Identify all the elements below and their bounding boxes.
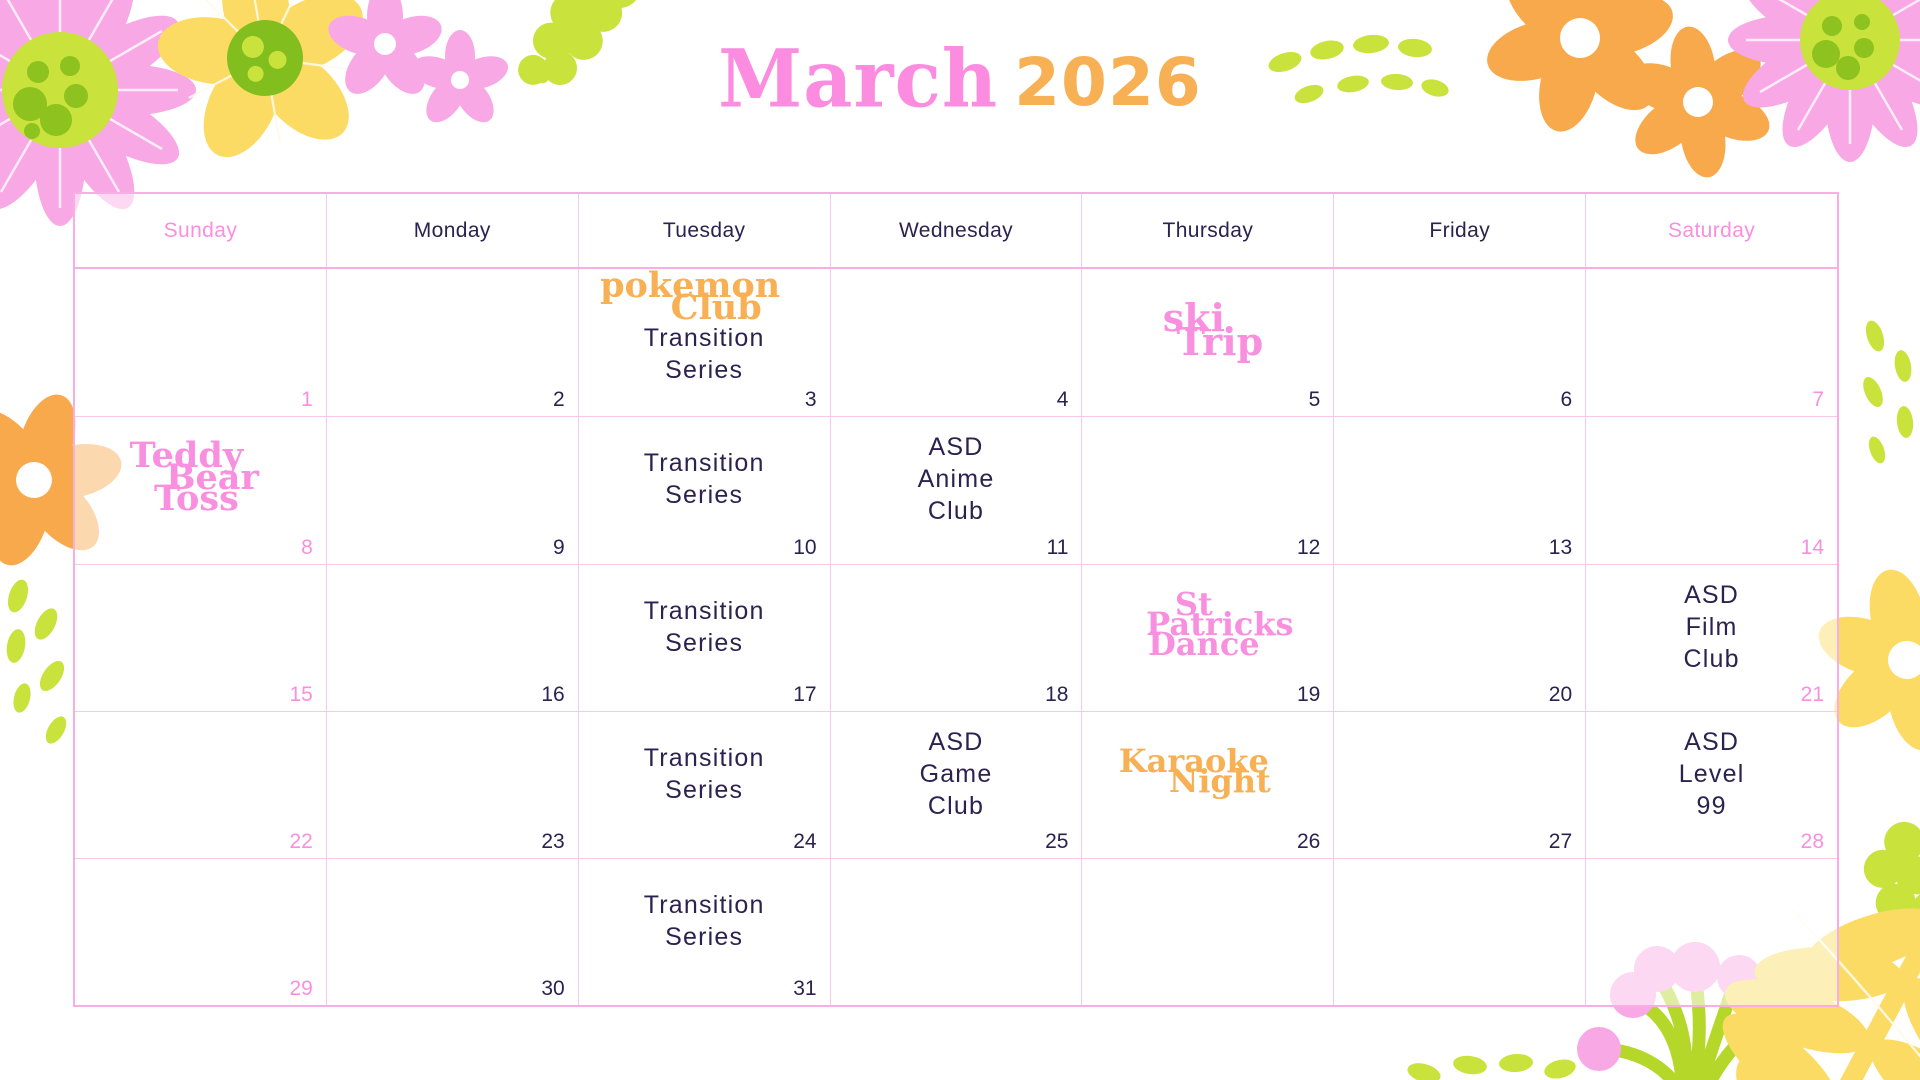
day-cell-28[interactable]: ASD Level 9928 — [1586, 712, 1837, 858]
day-cell-3[interactable]: pokemonClubTransition Series3 — [579, 269, 831, 416]
day-number: 21 — [1801, 684, 1824, 705]
day-cell-1[interactable]: 1 — [75, 269, 327, 416]
day-cell-21[interactable]: ASD Film Club21 — [1586, 565, 1837, 711]
green-dot-sprig-right-icon — [1845, 320, 1920, 500]
event-title-line: Teddy — [130, 445, 244, 467]
calendar-week-row: 1516Transition Series1718StPatricksDance… — [75, 565, 1837, 712]
event-title-decorative: TeddyBearToss — [144, 445, 258, 510]
calendar-grid: SundayMondayTuesdayWednesdayThursdayFrid… — [73, 192, 1839, 1007]
day-cell-24[interactable]: Transition Series24 — [579, 712, 831, 858]
weekday-header-wednesday: Wednesday — [831, 194, 1083, 267]
event-title-plain: Transition Series — [644, 889, 765, 953]
day-cell-23[interactable]: 23 — [327, 712, 579, 858]
day-number: 22 — [290, 831, 313, 852]
day-cell-2[interactable]: 2 — [327, 269, 579, 416]
event-title-decorative: pokemonClub — [614, 275, 794, 318]
event-title-plain: ASD Game Club — [920, 726, 993, 822]
day-cell-19[interactable]: StPatricksDance19 — [1082, 565, 1334, 711]
event-title-line: Bear — [156, 467, 270, 489]
day-cell-16[interactable]: 16 — [327, 565, 579, 711]
day-number: 16 — [541, 684, 564, 705]
event-title-line: ski — [1151, 306, 1238, 330]
weekday-header-row: SundayMondayTuesdayWednesdayThursdayFrid… — [75, 194, 1837, 269]
day-number: 12 — [1297, 537, 1320, 558]
calendar-week-row: 12pokemonClubTransition Series34skiTrip5… — [75, 269, 1837, 417]
event-title-decorative: KaraokeNight — [1133, 752, 1283, 792]
day-cell-9[interactable]: 9 — [327, 417, 579, 563]
day-cell-8[interactable]: TeddyBearToss8 — [75, 417, 327, 563]
green-dot-sprig-bottom-icon — [1400, 1015, 1620, 1080]
day-number: 24 — [793, 831, 816, 852]
event-title-plain: Transition Series — [644, 595, 765, 659]
event-title-plain: Transition Series — [644, 742, 765, 806]
event-title-plain: Transition Series — [644, 447, 765, 511]
weekday-header-thursday: Thursday — [1082, 194, 1334, 267]
day-number: 26 — [1297, 831, 1320, 852]
day-number: 18 — [1045, 684, 1068, 705]
day-cell-18[interactable]: 18 — [831, 565, 1083, 711]
event-title-plain: ASD Anime Club — [918, 431, 995, 527]
weekday-header-saturday: Saturday — [1586, 194, 1837, 267]
day-number: 31 — [793, 978, 816, 999]
calendar-page: March2026 SundayMondayTuesdayWednesdayTh… — [0, 0, 1920, 1080]
day-cell-empty[interactable] — [1082, 859, 1334, 1005]
day-cell-13[interactable]: 13 — [1334, 417, 1586, 563]
event-title-line: Night — [1145, 772, 1295, 792]
weekday-header-tuesday: Tuesday — [579, 194, 831, 267]
weekday-header-sunday: Sunday — [75, 194, 327, 267]
event-title-line: Club — [626, 297, 806, 319]
event-title-plain: ASD Level 99 — [1679, 726, 1745, 822]
day-cell-7[interactable]: 7 — [1586, 269, 1837, 416]
day-cell-30[interactable]: 30 — [327, 859, 579, 1005]
event-title-line: Dance — [1130, 635, 1277, 655]
green-leaf-sprig-right-icon — [1840, 840, 1920, 1050]
day-cell-25[interactable]: ASD Game Club25 — [831, 712, 1083, 858]
event-title-line: pokemon — [600, 275, 780, 297]
day-cell-empty[interactable] — [831, 859, 1083, 1005]
day-number: 25 — [1045, 831, 1068, 852]
day-cell-27[interactable]: 27 — [1334, 712, 1586, 858]
day-number: 6 — [1560, 389, 1572, 410]
day-cell-6[interactable]: 6 — [1334, 269, 1586, 416]
day-number: 1 — [301, 389, 313, 410]
title-month: March — [718, 32, 998, 125]
calendar-week-row: 2223Transition Series24ASD Game Club25Ka… — [75, 712, 1837, 859]
day-cell-17[interactable]: Transition Series17 — [579, 565, 831, 711]
weekday-header-monday: Monday — [327, 194, 579, 267]
day-number: 5 — [1309, 389, 1321, 410]
event-title-plain: ASD Film Club — [1683, 579, 1739, 675]
day-number: 23 — [541, 831, 564, 852]
title-year: 2026 — [1014, 44, 1202, 121]
day-number: 4 — [1057, 389, 1069, 410]
day-number: 11 — [1047, 537, 1069, 558]
day-number: 17 — [793, 684, 816, 705]
day-number: 8 — [301, 537, 313, 558]
event-title-line: Toss — [140, 488, 254, 510]
day-number: 3 — [805, 389, 817, 410]
event-title-line: Karaoke — [1119, 752, 1269, 772]
day-number: 7 — [1812, 389, 1824, 410]
calendar-week-row: 2930Transition Series31 — [75, 859, 1837, 1005]
day-cell-10[interactable]: Transition Series10 — [579, 417, 831, 563]
day-cell-29[interactable]: 29 — [75, 859, 327, 1005]
event-title-line: Trip — [1177, 330, 1264, 354]
event-title-line: Patricks — [1146, 615, 1293, 635]
day-cell-12[interactable]: 12 — [1082, 417, 1334, 563]
day-cell-5[interactable]: skiTrip5 — [1082, 269, 1334, 416]
day-number: 14 — [1801, 537, 1824, 558]
day-number: 27 — [1549, 831, 1572, 852]
event-title-plain: Transition Series — [644, 322, 765, 386]
day-cell-22[interactable]: 22 — [75, 712, 327, 858]
day-number: 28 — [1801, 831, 1824, 852]
day-number: 29 — [290, 978, 313, 999]
day-cell-31[interactable]: Transition Series31 — [579, 859, 831, 1005]
page-title: March2026 — [0, 34, 1920, 123]
day-number: 15 — [290, 684, 313, 705]
day-cell-empty[interactable] — [1334, 859, 1586, 1005]
day-number: 30 — [541, 978, 564, 999]
day-cell-20[interactable]: 20 — [1334, 565, 1586, 711]
day-cell-15[interactable]: 15 — [75, 565, 327, 711]
event-title-decorative: StPatricksDance — [1134, 595, 1281, 654]
day-cell-4[interactable]: 4 — [831, 269, 1083, 416]
day-number: 2 — [553, 389, 565, 410]
day-number: 19 — [1297, 684, 1320, 705]
event-title-line: St — [1120, 595, 1267, 615]
day-cell-26[interactable]: KaraokeNight26 — [1082, 712, 1334, 858]
day-number: 20 — [1549, 684, 1572, 705]
day-cell-14[interactable]: 14 — [1586, 417, 1837, 563]
calendar-week-row: TeddyBearToss89Transition Series10ASD An… — [75, 417, 1837, 564]
day-number: 9 — [553, 537, 565, 558]
event-title-decorative: skiTrip — [1165, 306, 1252, 353]
day-number: 13 — [1549, 537, 1572, 558]
day-cell-empty[interactable] — [1586, 859, 1837, 1005]
day-cell-11[interactable]: ASD Anime Club11 — [831, 417, 1083, 563]
weekday-header-friday: Friday — [1334, 194, 1586, 267]
day-number: 10 — [793, 537, 816, 558]
